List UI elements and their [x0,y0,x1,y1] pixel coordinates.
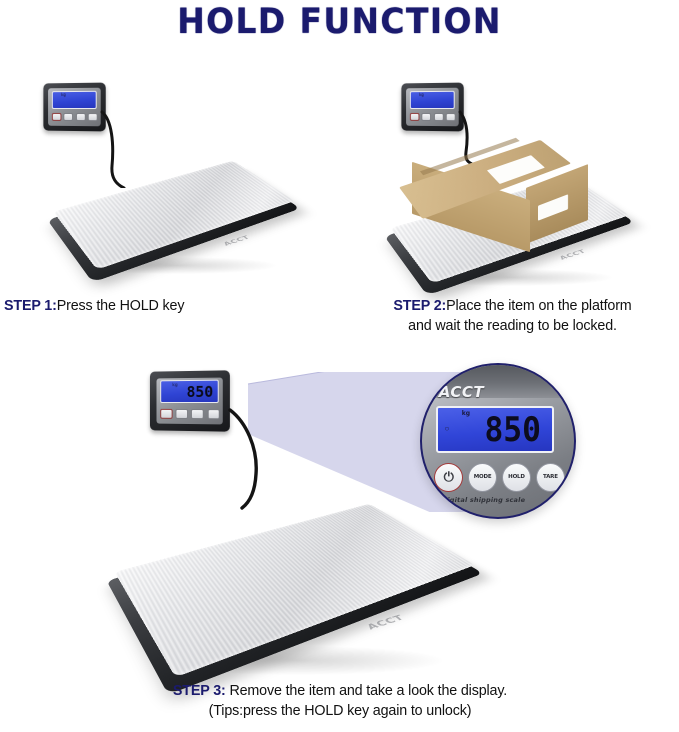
magnified-display-view: ACCT kg ○ 850 ⏻ MODE HOLD TARE Digital s… [420,363,576,519]
hold-button[interactable] [434,113,444,121]
step-2-tag: STEP 2: [393,298,446,314]
hold-button[interactable]: HOLD [502,463,531,492]
step-1-caption: STEP 1:Press the HOLD key [4,296,334,316]
scale-indicator-step2: kg [401,83,463,132]
mode-button[interactable] [176,409,188,419]
scale-indicator-step3: kg 850 [150,370,230,431]
step-1-tag: STEP 1: [4,298,57,314]
scale-indicator-step1: kg [43,83,105,132]
indicator-face: kg [48,88,100,126]
indicator-keypad-step3 [161,407,220,421]
scale-platform-step3: ACCT [132,486,462,668]
lcd-unit-label: kg [61,93,66,98]
lcd-reading-step3: 850 [187,383,214,401]
step-3-text-line-1: Remove the item and take a look the disp… [229,683,507,699]
magnified-lcd-screen: kg ○ 850 [436,406,555,453]
power-button[interactable]: ⏻ [434,463,463,492]
lcd-unit-label: kg [462,410,470,417]
capacity-label: 400lb [549,496,568,503]
tare-button[interactable] [446,113,456,121]
step-2-text-line-1: Place the item on the platform [446,298,631,314]
page-title: HOLD FUNCTION [20,2,658,42]
lcd-screen-step3: kg 850 [161,380,219,403]
cardboard-parcel [398,148,598,268]
power-button[interactable] [52,113,61,121]
step-2-caption: STEP 2:Place the item on the platform an… [350,296,675,336]
indicator-keypad-step2 [410,112,456,123]
power-button[interactable] [410,113,419,121]
indicator-face: kg 850 [156,377,223,425]
battery-icon: ○ [445,424,450,433]
lcd-reading-value: 850 [484,413,541,447]
step-3-caption: STEP 3: Remove the item and take a look … [40,681,640,721]
platform-brand-logo: ACCT [222,235,251,247]
indicator-face: kg [406,88,458,126]
lcd-screen-step1: kg [52,90,97,109]
brand-logo-acct: ACCT [439,383,484,401]
step-2-text-line-2: and wait the reading to be locked. [408,318,617,334]
power-button[interactable] [161,409,173,419]
tare-button[interactable] [207,409,219,419]
mode-button[interactable] [422,113,431,121]
tare-button[interactable] [88,113,98,121]
mode-button[interactable] [64,113,73,121]
hold-button[interactable] [191,409,203,419]
product-tagline: Digital shipping scale [442,496,525,504]
lcd-unit-label: kg [419,93,424,98]
tare-button[interactable]: TARE [536,463,565,492]
step-1-text: Press the HOLD key [57,298,185,314]
lcd-screen-step2: kg [410,90,455,109]
step-3-text-line-2: (Tips:press the HOLD key again to unlock… [209,703,472,719]
hold-button[interactable] [76,113,86,121]
lcd-unit-label: kg [172,383,177,388]
mode-button[interactable]: MODE [468,463,497,492]
indicator-keypad-step1 [52,112,98,123]
magnified-keypad: ⏻ MODE HOLD TARE [434,462,565,492]
scale-platform-step1: ACCT [62,158,290,270]
step-3-tag: STEP 3: [173,683,226,699]
